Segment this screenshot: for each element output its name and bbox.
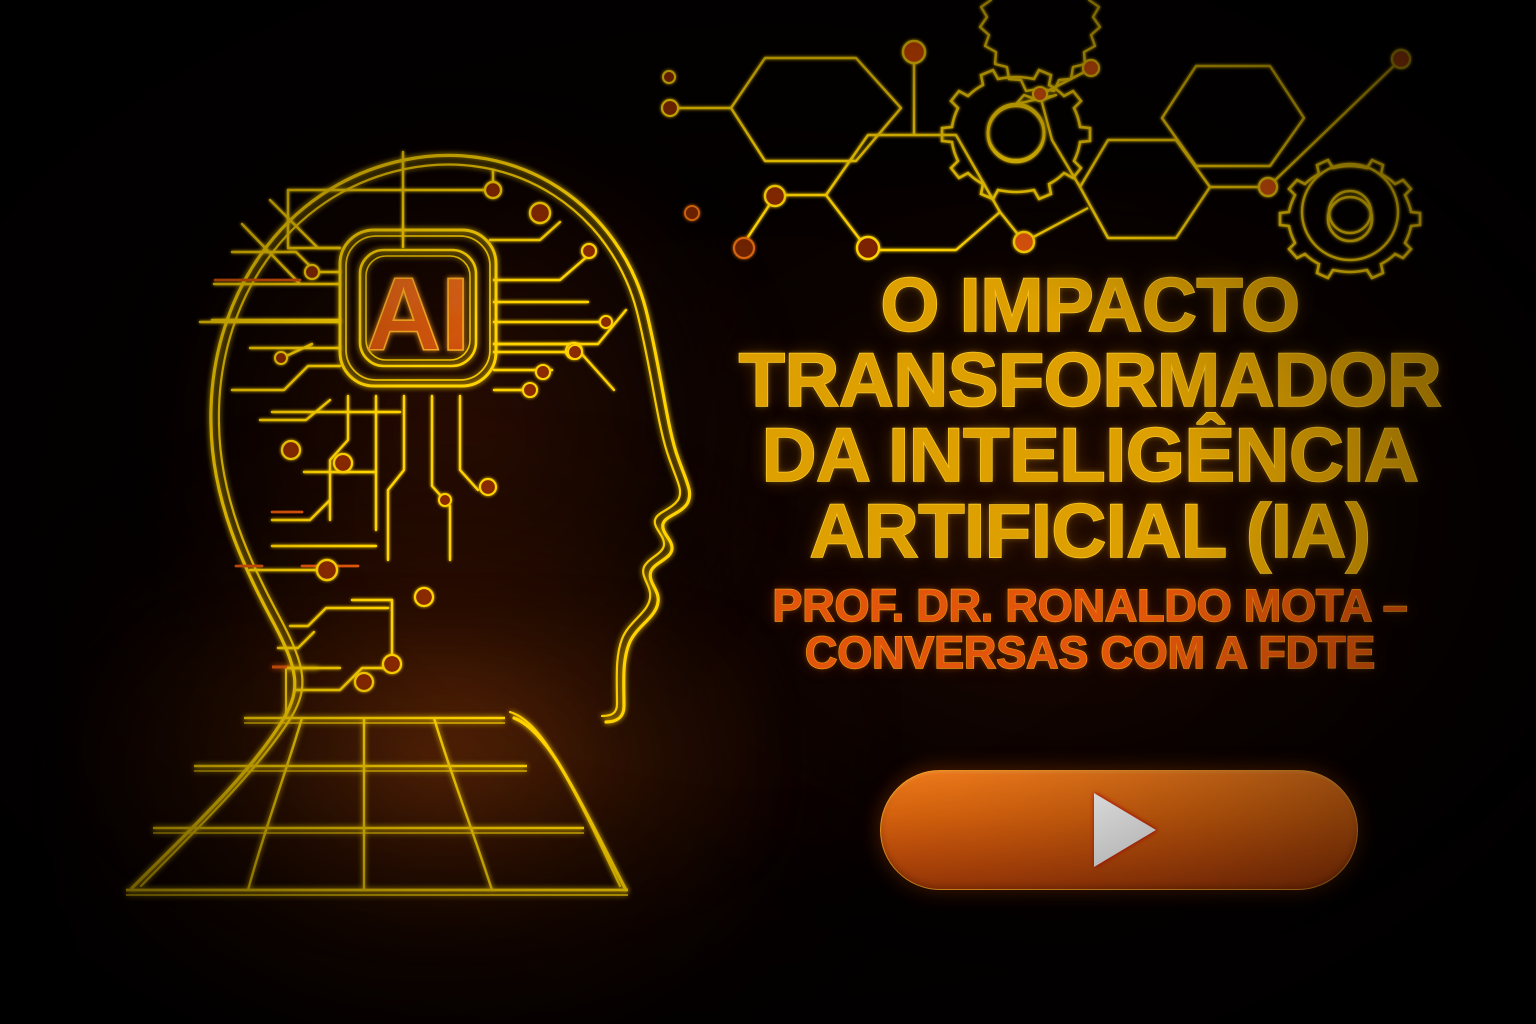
background-haze [60,620,760,940]
page-subtitle: PROF. DR. RONALDO MOTA – CONVERSAS COM A… [700,583,1480,677]
play-button[interactable] [880,770,1358,890]
video-thumbnail-canvas: AI [0,0,1536,1024]
play-triangle-icon [1094,793,1156,867]
page-title: O IMPACTO TRANSFORMADOR DA INTELIGÊNCIA … [700,268,1480,569]
text-block: O IMPACTO TRANSFORMADOR DA INTELIGÊNCIA … [700,268,1480,677]
